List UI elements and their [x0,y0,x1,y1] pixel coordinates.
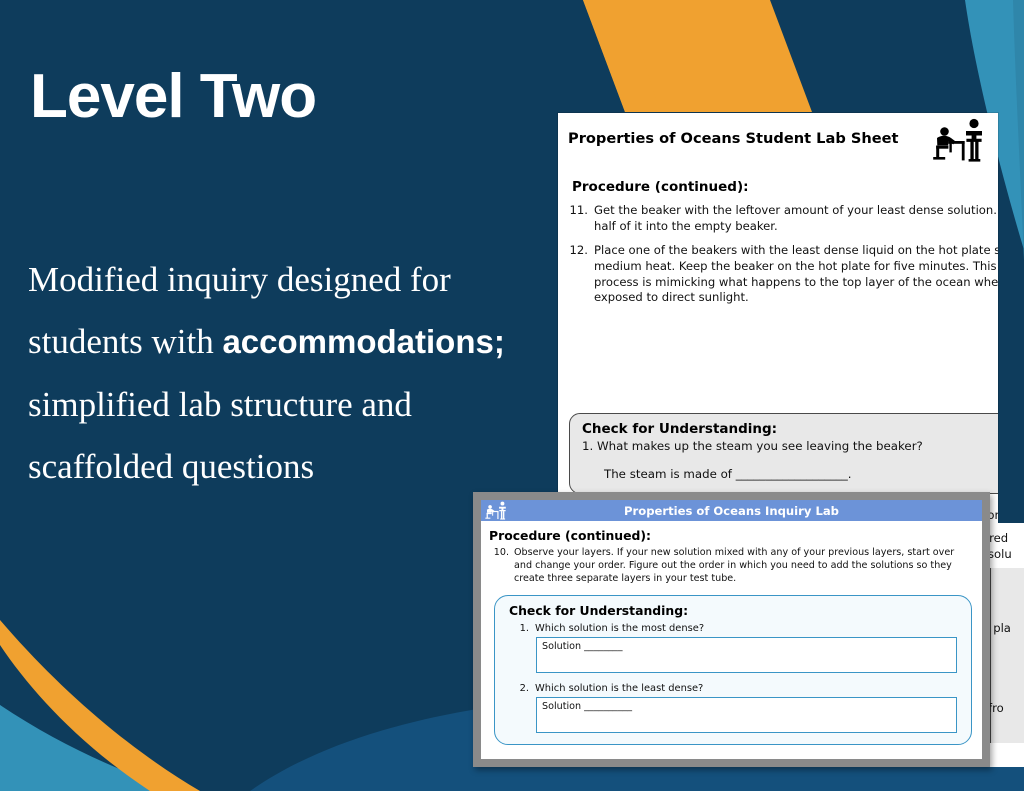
doc1-fragment: solu [990,547,1012,561]
teacher-student-desk-icon [930,118,992,162]
doc2-answer-field-1[interactable]: Solution ________ [536,637,957,673]
doc1-occluded-right-strip: ared solu t pla fro [990,523,1024,767]
doc1-title: Properties of Oceans Student Lab Sheet [568,130,928,147]
doc1-procedure-heading: Procedure (continued): [572,179,749,195]
doc2-check-for-understanding-box: Check for Understanding: 1. Which soluti… [494,595,972,745]
doc1-fragment: t pla [990,621,1011,635]
doc2-check-question-row: 1. Which solution is the most dense? [509,623,957,634]
doc2-check-heading: Check for Understanding: [509,603,957,618]
doc2-step-text: Observe your layers. If your new solutio… [514,547,972,586]
doc2-title: Properties of Oceans Inquiry Lab [481,504,982,518]
doc1-step: 12. Place one of the beakers with the le… [566,243,998,307]
doc1-step-number: 12. [566,243,594,307]
doc1-step-text: Place one of the beakers with the least … [594,243,998,307]
doc1-check-question: 1. What makes up the steam you see leavi… [582,439,998,453]
doc2-paper: Properties of Oceans Inquiry Lab Procedu… [481,500,982,759]
doc1-step-text: Get the beaker with the leftover amount … [594,203,998,235]
doc2-answer-field-2[interactable]: Solution __________ [536,697,957,733]
doc1-fragment: fro [990,701,1004,715]
doc2-procedure-heading: Procedure (continued): [489,528,982,543]
doc2-question-text: Which solution is the most dense? [535,623,704,634]
doc2-question-number: 1. [509,623,535,634]
doc1-step-number: 11. [566,203,594,235]
slide-body-part2: simplified lab structure and scaffolded … [28,385,412,486]
doc1-fragment-box [990,568,1024,743]
slide-canvas: Level Two Modified inquiry designed for … [0,0,1024,791]
doc2-check-question-row: 2. Which solution is the least dense? [509,683,957,694]
slide-body: Modified inquiry designed for students w… [28,249,533,498]
doc2-step-number: 10. [489,547,514,586]
doc2-question-text: Which solution is the least dense? [535,683,703,694]
doc1-check-for-understanding-box: Check for Understanding: 1. What makes u… [569,413,998,494]
slide-body-emphasis: accommodations; [222,323,504,360]
inquiry-lab-document[interactable]: Properties of Oceans Inquiry Lab Procedu… [473,492,990,767]
doc1-fragment: ared [990,531,1008,545]
doc1-check-heading: Check for Understanding: [582,421,998,437]
student-lab-sheet-document[interactable]: Properties of Oceans Student Lab Sheet [558,113,998,523]
doc1-step: 11. Get the beaker with the leftover amo… [566,203,998,235]
slide-title: Level Two [30,64,316,129]
doc1-check-answer-prompt[interactable]: The steam is made of ___________________… [604,467,998,481]
doc2-question-number: 2. [509,683,535,694]
doc1-step-list: 11. Get the beaker with the leftover amo… [566,203,998,314]
doc2-title-bar: Properties of Oceans Inquiry Lab [481,500,982,521]
doc2-step: 10. Observe your layers. If your new sol… [489,547,972,586]
